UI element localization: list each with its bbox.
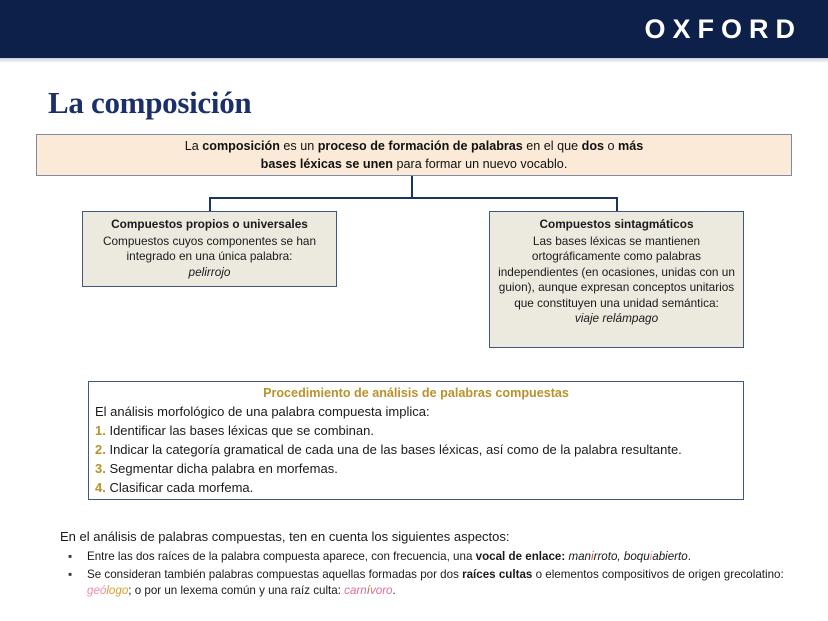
step-number: 3.: [95, 461, 106, 476]
step-number: 4.: [95, 480, 106, 495]
procedure-step: 4. Clasificar cada morfema.: [95, 478, 737, 497]
example-part: abierto: [652, 550, 687, 563]
definition-text-1: La: [185, 139, 203, 153]
connector-drop-right: [616, 197, 618, 212]
definition-bold-3: dos: [582, 139, 604, 153]
note-end-2: .: [393, 584, 396, 597]
example-highlight: logo: [106, 584, 128, 597]
type-box-body: Compuestos cuyos componentes se han inte…: [103, 234, 316, 264]
header-bar: OXFORD: [0, 0, 828, 58]
definition-bold-2: proceso de formación de palabras: [318, 139, 523, 153]
note-bold-1: vocal de enlace:: [476, 550, 566, 563]
notes-section: En el análisis de palabras compuestas, t…: [60, 528, 820, 601]
procedure-step: 3. Segmentar dicha palabra en morfemas.: [95, 459, 737, 478]
example-highlight: carn: [344, 584, 367, 597]
note-text-1: Entre las dos raíces de la palabra compu…: [87, 550, 476, 563]
type-box-compuestos-sintagmaticos: Compuestos sintagmáticos Las bases léxic…: [489, 211, 744, 348]
step-text: Segmentar dicha palabra en morfemas.: [109, 461, 337, 476]
type-box-compuestos-propios: Compuestos propios o universales Compues…: [82, 211, 337, 287]
procedure-step: 1. Identificar las bases léxicas que se …: [95, 421, 737, 440]
page-title: La composición: [48, 85, 251, 121]
definition-bold-1: composición: [202, 139, 280, 153]
step-text: Clasificar cada morfema.: [109, 480, 253, 495]
definition-text-4: o: [604, 139, 618, 153]
bullet-icon: ▪: [68, 567, 72, 584]
connector-stem: [411, 176, 413, 199]
example-highlight: voro: [370, 584, 393, 597]
note-bold-2: raíces cultas: [462, 568, 532, 581]
note-end-1: .: [688, 550, 691, 563]
note-text-4: ; o por un lexema común y una raíz culta…: [128, 584, 344, 597]
definition-text-3: en el que: [523, 139, 582, 153]
example-part: rroto: [594, 550, 618, 563]
type-box-body: Las bases léxicas se mantienen ortográfi…: [498, 234, 735, 310]
step-text: Identificar las bases léxicas que se com…: [109, 423, 373, 438]
definition-box: La composición es un proceso de formació…: [36, 134, 792, 176]
notes-lead: En el análisis de palabras compuestas, t…: [60, 528, 820, 546]
definition-text-2: es un: [280, 139, 318, 153]
procedure-step: 2. Indicar la categoría gramatical de ca…: [95, 440, 737, 459]
definition-line-1: La composición es un proceso de formació…: [185, 137, 644, 155]
step-number: 2.: [95, 442, 106, 457]
note-text-3: o elementos compositivos de origen greco…: [532, 568, 783, 581]
connector-horizontal: [209, 197, 618, 199]
bullet-icon: ▪: [68, 549, 72, 566]
definition-bold-4: más: [618, 139, 643, 153]
type-box-title: Compuestos sintagmáticos: [498, 217, 735, 233]
example-part: man: [568, 550, 591, 563]
type-box-title: Compuestos propios o universales: [91, 217, 328, 233]
oxford-logo: OXFORD: [644, 14, 802, 45]
procedure-intro: El análisis morfológico de una palabra c…: [95, 402, 737, 421]
header-shadow: [0, 58, 828, 63]
type-box-example: viaje relámpago: [498, 311, 735, 327]
example-highlight: geó: [87, 584, 106, 597]
step-text: Indicar la categoría gramatical de cada …: [109, 442, 681, 457]
connector-drop-left: [209, 197, 211, 212]
note-text-2: Se consideran también palabras compuesta…: [87, 568, 462, 581]
definition-line-2: bases léxicas se unen para formar un nue…: [261, 155, 568, 173]
type-box-example: pelirrojo: [91, 265, 328, 281]
example-part: boqu: [624, 550, 650, 563]
definition-text-5: para formar un nuevo vocablo.: [393, 157, 567, 171]
procedure-box: Procedimiento de análisis de palabras co…: [88, 381, 744, 500]
note-item: ▪Se consideran también palabras compuest…: [60, 567, 820, 600]
note-item: ▪Entre las dos raíces de la palabra comp…: [60, 549, 820, 566]
definition-bold-5: bases léxicas se unen: [261, 157, 393, 171]
step-number: 1.: [95, 423, 106, 438]
procedure-heading: Procedimiento de análisis de palabras co…: [95, 386, 737, 400]
